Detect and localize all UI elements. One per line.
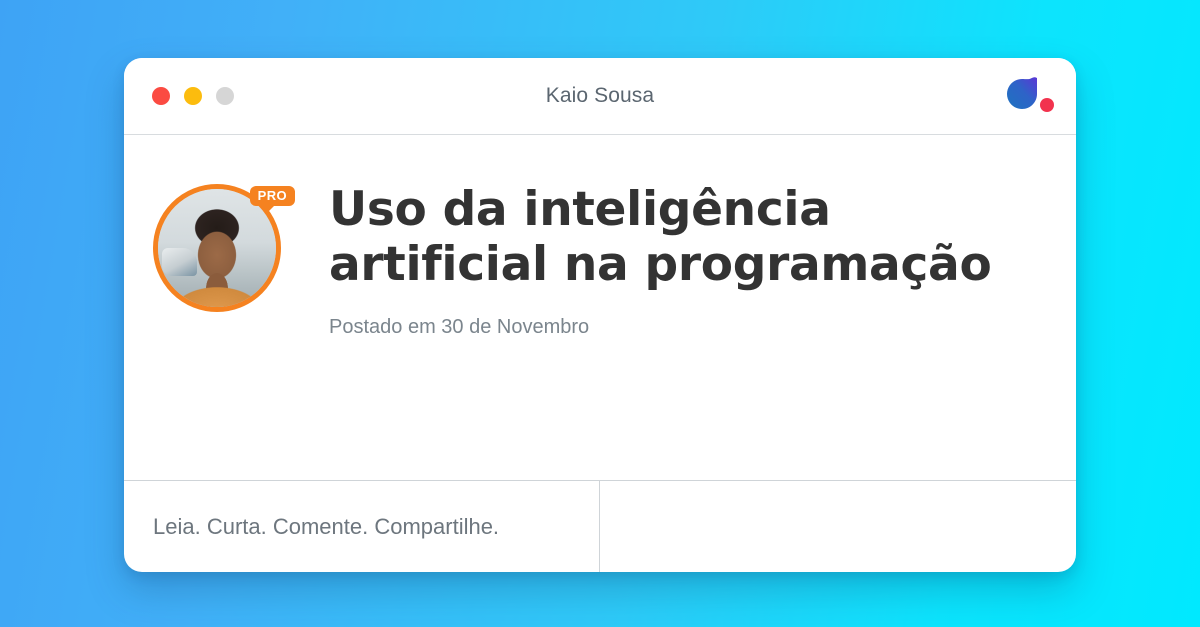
avatar-photo bbox=[158, 189, 276, 307]
footer-tagline: Leia. Curta. Comente. Compartilhe. bbox=[153, 514, 499, 540]
card-footer: Leia. Curta. Comente. Compartilhe. bbox=[124, 480, 1076, 572]
window-title: Kaio Sousa bbox=[124, 84, 1076, 108]
avatar[interactable]: PRO bbox=[153, 184, 281, 312]
post-content-area: PRO Uso da inteligência artificial na pr… bbox=[124, 135, 1076, 480]
window-title-bar: Kaio Sousa bbox=[124, 58, 1076, 135]
browser-window-card: Kaio Sousa PRO U bbox=[124, 58, 1076, 572]
page-title: Uso da inteligência artificial na progra… bbox=[329, 183, 1009, 292]
footer-right-cell bbox=[600, 481, 1076, 572]
brand-droplet-icon bbox=[1005, 75, 1057, 117]
pro-badge: PRO bbox=[250, 186, 295, 206]
footer-left-cell: Leia. Curta. Comente. Compartilhe. bbox=[124, 481, 600, 572]
post-date: Postado em 30 de Novembro bbox=[329, 316, 1009, 339]
post-text-block: Uso da inteligência artificial na progra… bbox=[329, 181, 1009, 339]
